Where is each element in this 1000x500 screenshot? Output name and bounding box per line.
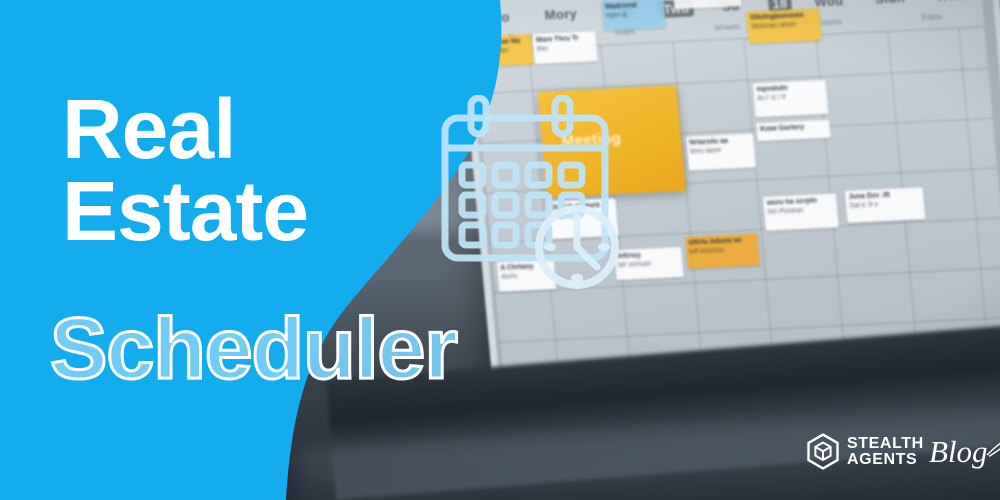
banner-canvas: Mo Mory Tha Twu Su 18 Wou Slun Wert Paze…	[0, 0, 1000, 500]
blog-script-wordmark: Blog	[927, 429, 1000, 475]
logo-wordmark: STEALTH AGENTS	[847, 436, 924, 469]
hexagon-cube-icon	[806, 433, 840, 471]
blog-script-text: Blog	[929, 434, 988, 469]
headline-line-2: Estate	[62, 170, 308, 252]
headline-outline-text: Scheduler	[50, 300, 457, 399]
headline-block: Real Estate	[62, 88, 308, 253]
headline-outline-block: Scheduler	[50, 300, 457, 399]
calendar-icon	[445, 98, 605, 258]
brand-logo[interactable]: STEALTH AGENTS Blog	[806, 424, 1000, 480]
logo-line-2: AGENTS	[847, 452, 924, 468]
calendar-clock-icon-group	[437, 95, 637, 305]
logo-line-1: STEALTH	[847, 436, 924, 452]
clock-icon	[539, 209, 615, 285]
pen-flourish-icon	[987, 439, 1000, 457]
headline-line-1: Real	[62, 88, 308, 170]
